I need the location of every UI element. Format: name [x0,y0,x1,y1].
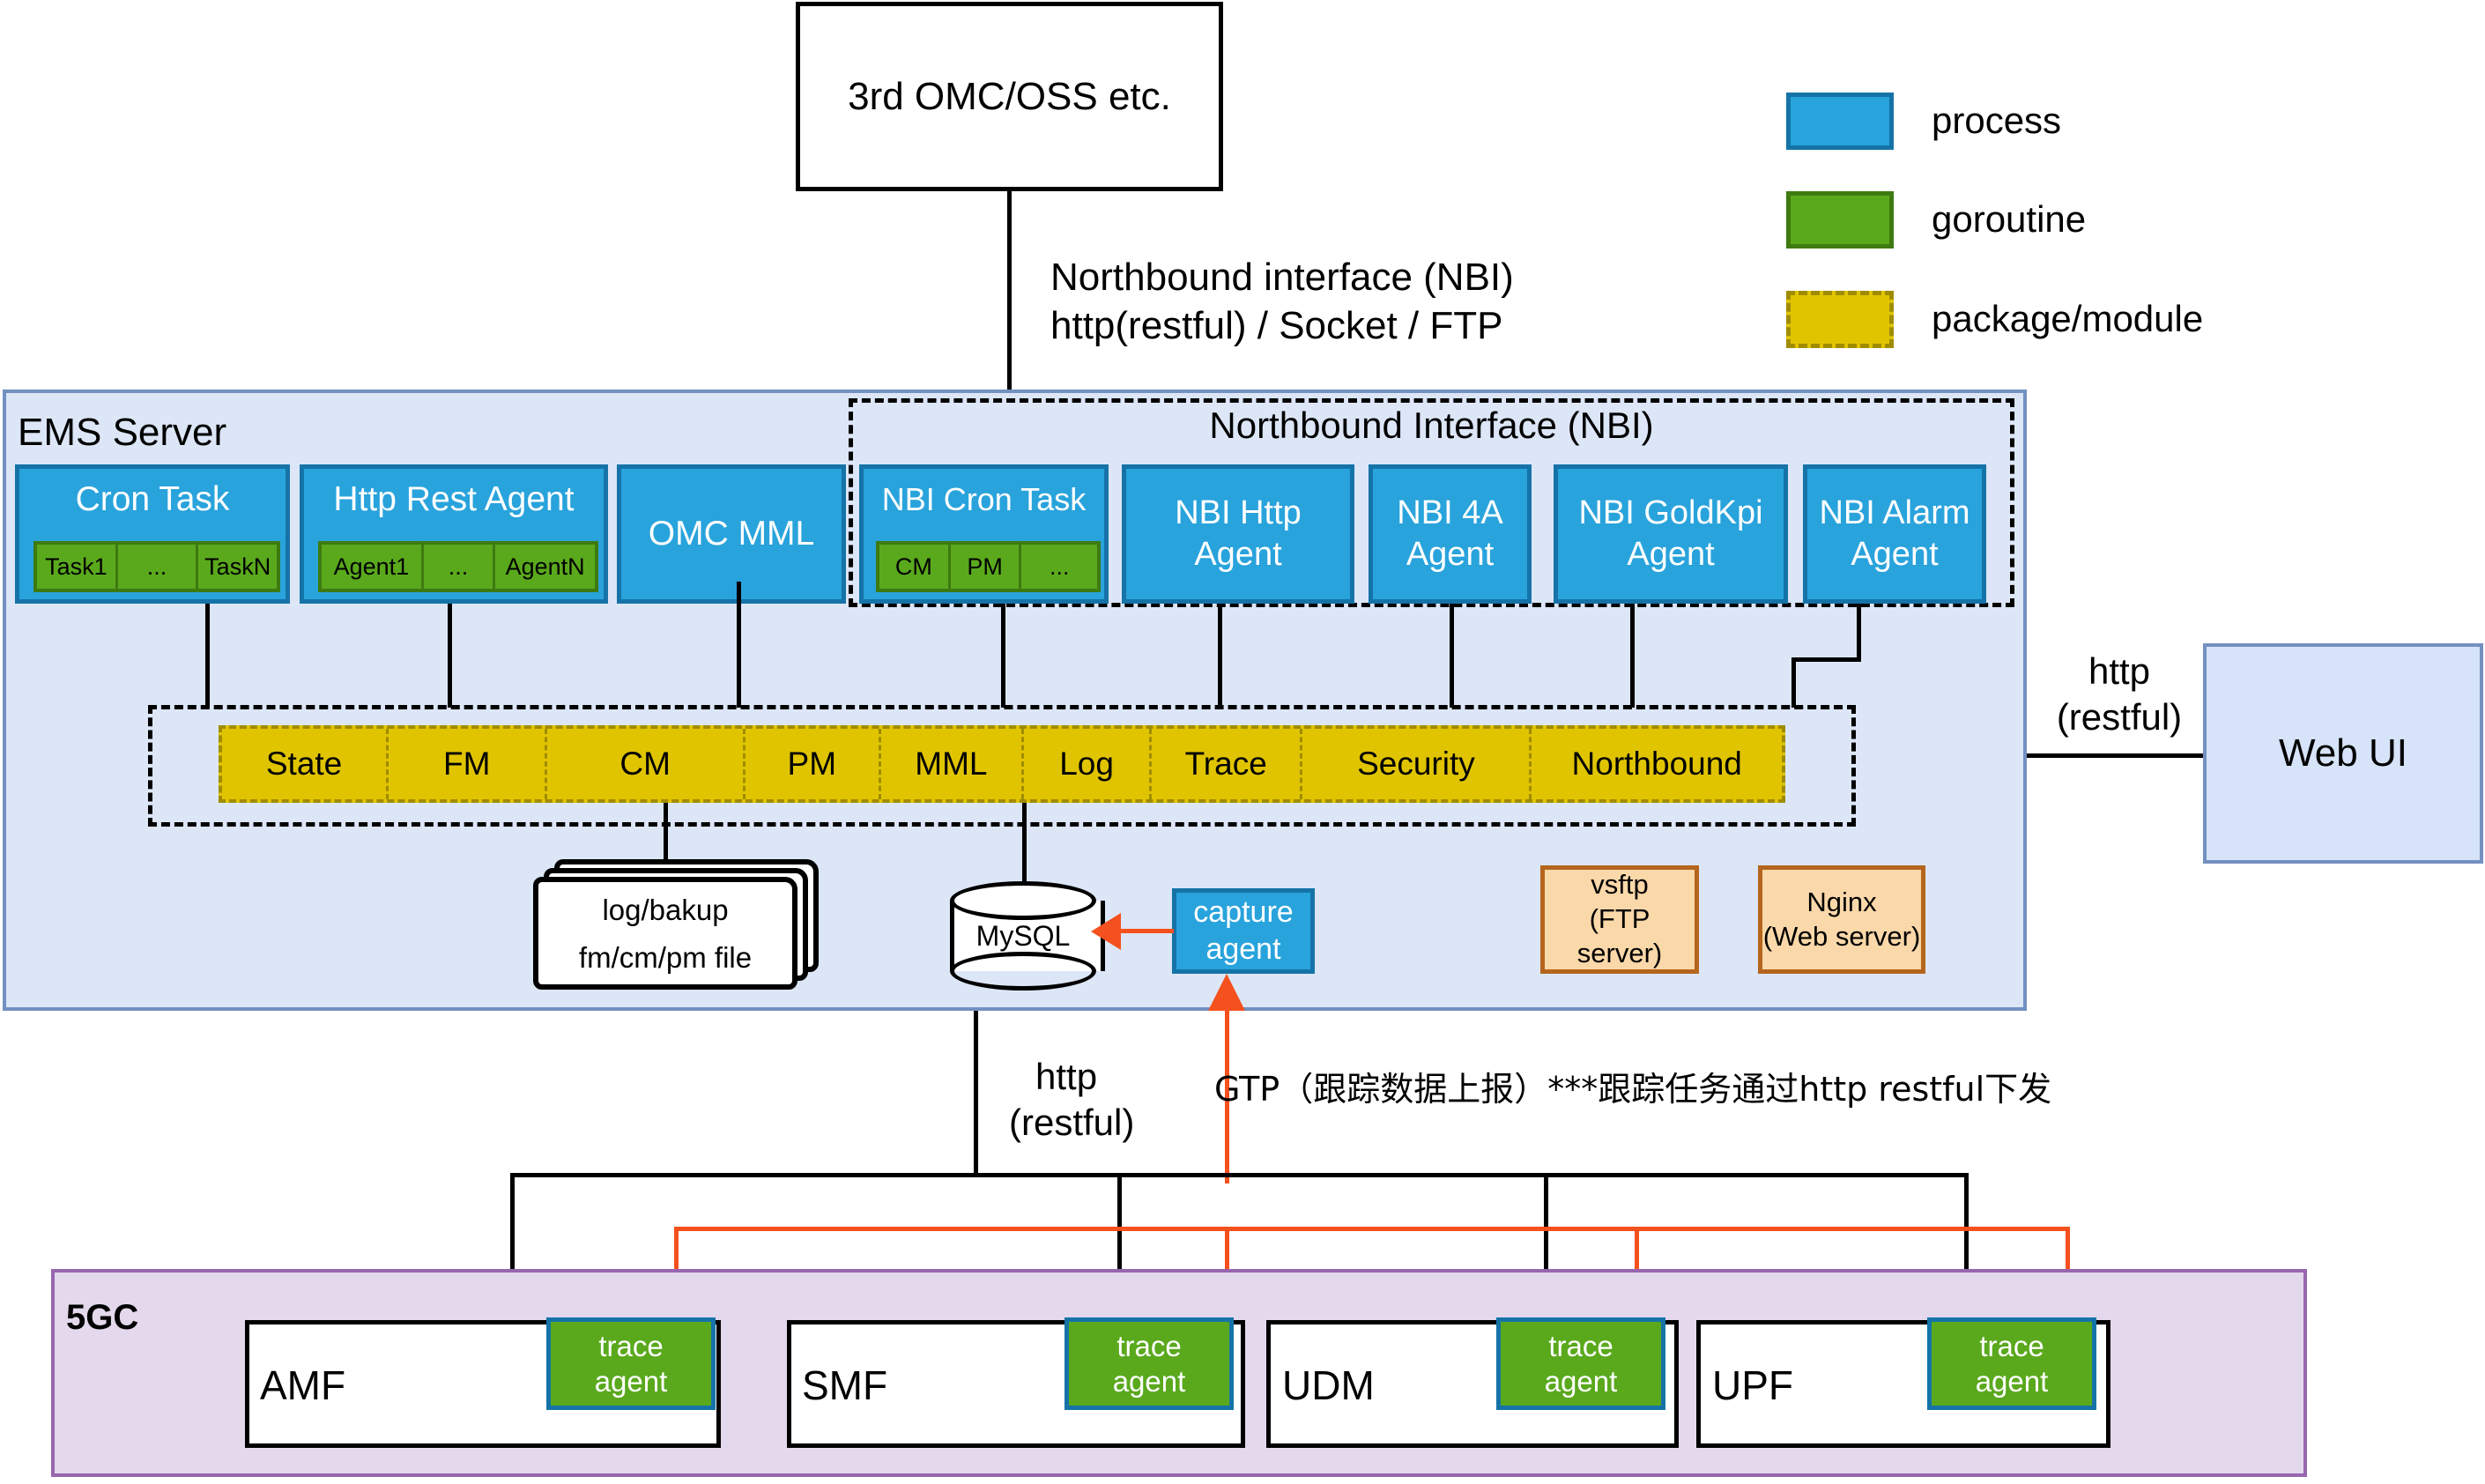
file-stack-label-line1: log/bakup [533,891,797,930]
webui-label: Web UI [2279,731,2407,775]
process-nbi-alarm-agent[interactable]: NBI AlarmAgent [1803,464,1986,604]
connector-nbi-alarm-agent-seg3 [1791,657,1796,708]
legend-swatch-module [1786,291,1894,348]
module-security[interactable]: Security [1302,729,1532,799]
server-vsftp[interactable]: vsftp (FTP server) [1540,865,1699,974]
connector-nbi-alarm-agent-seg1 [1857,604,1861,662]
connector-nbi-alarm-agent-seg2 [1791,657,1861,662]
external-omc-oss-label: 3rd OMC/OSS etc. [848,75,1171,119]
webui-link-label-line1: http [2036,650,2203,693]
process-omc-mml[interactable]: OMC MML [617,464,846,604]
trace-agent-smf-line1: trace [1116,1329,1181,1364]
process-nbi-cron-task-label: NBI Cron Task [864,469,1104,531]
goroutine-group-cron-task: Task1 ... TaskN [33,541,280,592]
trace-agent-udm[interactable]: trace agent [1496,1317,1665,1410]
mysql-database-icon: MySQL [950,881,1096,991]
server-nginx[interactable]: Nginx (Web server) [1758,865,1925,974]
5gc-title: 5GC [66,1298,138,1338]
module-northbound[interactable]: Northbound [1532,729,1782,799]
module-trace[interactable]: Trace [1152,729,1302,799]
connector-nbi-4a-agent [1450,604,1454,708]
module-state[interactable]: State [222,729,389,799]
nbi-link-label-line2: http(restful) / Socket / FTP [1050,304,1502,348]
legend-swatch-process [1786,93,1894,150]
goroutine-cell[interactable]: Agent1 [322,545,424,589]
capture-agent-label: captureagent [1193,894,1293,968]
goroutine-cell[interactable]: PM [951,545,1022,589]
trace-agent-smf[interactable]: trace agent [1064,1317,1234,1410]
goroutine-cell[interactable]: ... [1021,545,1097,589]
process-http-rest-agent-label: Http Rest Agent [304,469,604,531]
trace-agent-amf-line1: trace [598,1329,663,1364]
server-nginx-line2: (Web server) [1763,920,1921,954]
goroutine-cell[interactable]: CM [879,545,951,589]
legend-swatch-goroutine [1786,191,1894,249]
connector-log-to-files [664,803,668,864]
connector-omc-mml [737,582,741,708]
connector-nbi-goldkpi-agent [1630,604,1635,708]
mysql-label: MySQL [950,881,1096,991]
connector-cron-task [205,604,210,708]
nbi-group-title: Northbound Interface (NBI) [849,404,2014,448]
server-vsftp-line2: (FTP server) [1545,902,1695,971]
process-nbi-http-agent-label: NBI HttpAgent [1175,493,1302,576]
module-mml[interactable]: MML [881,729,1025,799]
goroutine-group-http-rest-agent: Agent1 ... AgentN [318,541,598,592]
nbi-link-line [1007,191,1012,394]
goroutine-group-nbi-cron-task: CM PM ... [876,541,1101,592]
file-stack-icon: log/bakup fm/cm/pm file [533,859,833,991]
process-nbi-cron-task[interactable]: NBI Cron Task CM PM ... [859,464,1109,604]
module-log[interactable]: Log [1024,729,1152,799]
arrow-capture-to-mysql-line [1117,929,1174,933]
nf-black-bus [510,1173,1969,1177]
goroutine-cell[interactable]: Task1 [37,545,118,589]
trace-agent-amf-line2: agent [595,1364,668,1399]
module-bar: State FM CM PM MML Log Trace Security No… [219,725,1785,803]
webui-link-label-line2: (restful) [2027,696,2212,738]
process-nbi-4a-agent[interactable]: NBI 4AAgent [1369,464,1532,604]
legend-label-goroutine: goroutine [1932,198,2086,241]
trace-agent-amf[interactable]: trace agent [546,1317,716,1410]
server-nginx-line1: Nginx [1806,886,1876,920]
process-nbi-goldkpi-agent[interactable]: NBI GoldKpiAgent [1554,464,1788,604]
server-vsftp-line1: vsftp [1591,868,1648,902]
webui-link-line [2027,753,2203,758]
trace-agent-udm-line2: agent [1545,1364,1618,1399]
gtp-note-label: GTP（跟踪数据上报）***跟踪任务通过http restful下发 [1214,1062,2051,1110]
goroutine-cell[interactable]: ... [424,545,495,589]
legend-label-module: package/module [1932,298,2203,340]
process-omc-mml-label: OMC MML [649,515,815,553]
nf-label-udm: UDM [1282,1362,1375,1409]
module-fm[interactable]: FM [389,729,547,799]
external-omc-oss-box[interactable]: 3rd OMC/OSS etc. [796,2,1223,191]
nf-label-upf: UPF [1712,1362,1793,1409]
process-cron-task-label: Cron Task [19,469,286,531]
legend: process goroutine package/module [1786,93,2403,348]
gtp-uplink-arrowhead [1208,974,1245,1011]
trace-agent-upf-line1: trace [1979,1329,2044,1364]
goroutine-cell[interactable]: AgentN [495,545,595,589]
legend-label-process: process [1932,100,2061,142]
module-pm[interactable]: PM [745,729,881,799]
connector-http-rest-agent [448,604,452,708]
nf-label-amf: AMF [260,1362,345,1409]
trace-agent-smf-line2: agent [1113,1364,1186,1399]
southbound-http-label-line2: (restful) [1009,1102,1134,1144]
file-stack-label-line2: fm/cm/pm file [533,939,797,977]
goroutine-cell[interactable]: TaskN [198,545,277,589]
webui-box[interactable]: Web UI [2203,643,2483,864]
trace-agent-upf-line2: agent [1976,1364,2049,1399]
ems-server-title: EMS Server [18,411,226,455]
southbound-http-line [974,1011,978,1177]
trace-agent-upf[interactable]: trace agent [1927,1317,2096,1410]
process-http-rest-agent[interactable]: Http Rest Agent Agent1 ... AgentN [300,464,608,604]
southbound-http-label-line1: http [1035,1056,1097,1098]
process-cron-task[interactable]: Cron Task Task1 ... TaskN [15,464,290,604]
nf-orange-bus [674,1227,2070,1231]
process-nbi-alarm-agent-label: NBI AlarmAgent [1819,493,1969,576]
process-capture-agent[interactable]: captureagent [1172,888,1315,974]
nbi-link-label-line1: Northbound interface (NBI) [1050,256,1514,300]
process-nbi-http-agent[interactable]: NBI HttpAgent [1122,464,1354,604]
goroutine-cell[interactable]: ... [118,545,199,589]
nf-label-smf: SMF [802,1362,887,1409]
trace-agent-udm-line1: trace [1548,1329,1613,1364]
connector-log-to-mysql [1022,803,1027,891]
process-nbi-goldkpi-agent-label: NBI GoldKpiAgent [1578,493,1762,576]
process-nbi-4a-agent-label: NBI 4AAgent [1397,493,1502,576]
module-cm[interactable]: CM [547,729,745,799]
connector-nbi-http-agent [1218,604,1222,708]
connector-nbi-cron-task [1001,604,1005,708]
